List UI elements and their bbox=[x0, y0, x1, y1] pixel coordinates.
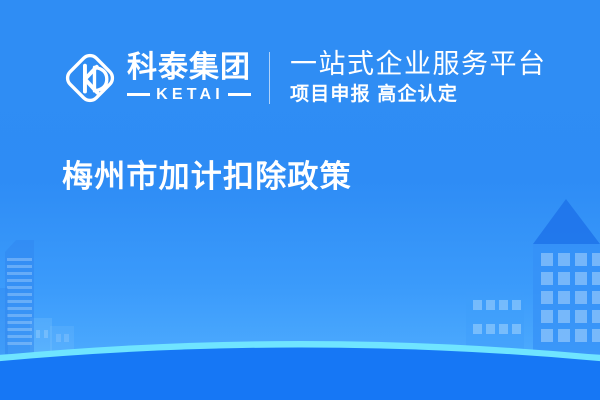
brand-name-en: KETAI bbox=[150, 87, 228, 103]
promo-banner: 科泰集团 KETAI 一站式企业服务平台 项目申报 高企认定 梅州市加计扣除政策 bbox=[0, 0, 600, 400]
building-right-group bbox=[466, 199, 600, 354]
ketai-diamond-logo-icon bbox=[62, 50, 118, 106]
brand-name-cn: 科泰集团 bbox=[127, 53, 251, 84]
banner-header: 科泰集团 KETAI 一站式企业服务平台 项目申报 高企认定 bbox=[62, 42, 547, 114]
wordmark-dash-left-icon bbox=[127, 93, 150, 96]
brand-name-en-row: KETAI bbox=[127, 87, 251, 103]
header-vertical-divider bbox=[269, 52, 270, 104]
logo-wordmark: 科泰集团 KETAI bbox=[127, 53, 251, 103]
tagline-primary: 一站式企业服务平台 bbox=[290, 49, 547, 80]
wordmark-dash-right-icon bbox=[228, 93, 251, 96]
tagline-secondary: 项目申报 高企认定 bbox=[290, 83, 547, 108]
tagline-block: 一站式企业服务平台 项目申报 高企认定 bbox=[290, 49, 547, 108]
page-title: 梅州市加计扣除政策 bbox=[62, 158, 352, 195]
building-left-group bbox=[0, 240, 74, 354]
